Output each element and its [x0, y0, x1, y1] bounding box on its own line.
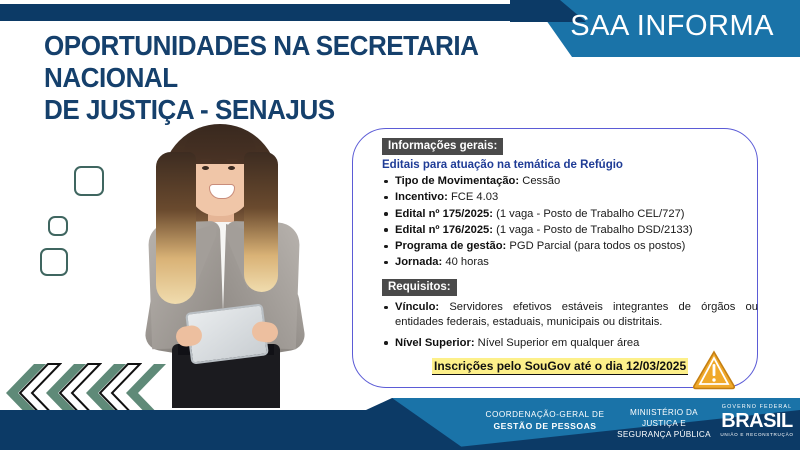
list-item: Nível Superior: Nível Superior em qualqu…	[382, 336, 762, 351]
warning-triangle-icon	[692, 350, 736, 390]
list-item: Incentivo: FCE 4.03	[382, 190, 762, 205]
footer-cgp: COORDENAÇÃO-GERAL DE GESTÃO DE PESSOAS	[470, 410, 620, 433]
list-item-value: (1 vaga - Posto de Trabalho DSD/2133)	[493, 224, 693, 236]
decorative-square-icon	[48, 216, 68, 236]
requirements-section-tag: Requisitos:	[382, 279, 457, 296]
info-section-tag: Informações gerais:	[382, 138, 503, 155]
list-item-label: Vínculo:	[395, 301, 439, 313]
list-item-label: Tipo de Movimentação:	[395, 175, 519, 187]
brasil-logo: GOVERNO FEDERAL BRASIL UNIÃO E RECONSTRU…	[718, 404, 796, 437]
info-card-content: Informações gerais: Editais para atuação…	[382, 136, 762, 352]
requirements-list: Vínculo: Servidores efetivos estáveis in…	[382, 300, 762, 350]
footer-ministry-line1: MINIISTÉRIO DA	[630, 408, 698, 417]
list-item: Vínculo: Servidores efetivos estáveis in…	[382, 300, 762, 330]
list-item-label: Incentivo:	[395, 191, 448, 203]
decorative-square-icon	[40, 248, 68, 276]
footer-cgp-line2: GESTÃO DE PESSOAS	[493, 421, 596, 431]
decorative-square-icon	[74, 166, 104, 196]
list-item-value: Cessão	[519, 175, 560, 187]
list-item-value: Nível Superior em qualquer área	[475, 337, 640, 349]
footer-ministry-line3: SEGURANÇA PÚBLICA	[617, 430, 711, 439]
list-item-value: FCE 4.03	[448, 191, 498, 203]
list-item: Tipo de Movimentação: Cessão	[382, 174, 762, 189]
list-item: Edital nº 176/2025: (1 vaga - Posto de T…	[382, 223, 762, 238]
list-item-label: Nível Superior:	[395, 337, 475, 349]
page-title-line1: OPORTUNIDADES NA SECRETARIA NACIONAL	[44, 30, 478, 93]
page-title: OPORTUNIDADES NA SECRETARIA NACIONAL DE …	[44, 30, 490, 126]
inscription-note: Inscrições pelo SouGov até o dia 12/03/2…	[432, 358, 688, 375]
brasil-logo-bottom: UNIÃO E RECONSTRUÇÃO	[718, 432, 796, 437]
list-item-value: Servidores efetivos estáveis integrantes…	[395, 301, 758, 328]
list-item-value: PGD Parcial (para todos os postos)	[506, 240, 685, 252]
list-item: Programa de gestão: PGD Parcial (para to…	[382, 239, 762, 254]
poster-canvas: SAA INFORMA OPORTUNIDADES NA SECRETARIA …	[0, 0, 800, 450]
list-item-label: Jornada:	[395, 256, 442, 268]
list-item-label: Edital nº 176/2025:	[395, 224, 493, 236]
list-item-value: 40 horas	[442, 256, 489, 268]
info-list: Tipo de Movimentação: CessãoIncentivo: F…	[382, 174, 762, 270]
footer-ministry-line2: JUSTIÇA E	[642, 419, 686, 428]
list-item-label: Programa de gestão:	[395, 240, 506, 252]
list-item: Edital nº 175/2025: (1 vaga - Posto de T…	[382, 207, 762, 222]
brasil-logo-main: BRASIL	[718, 411, 796, 431]
footer-ministry: MINIISTÉRIO DA JUSTIÇA E SEGURANÇA PÚBLI…	[608, 408, 720, 440]
list-item-label: Edital nº 175/2025:	[395, 208, 493, 220]
banner-label: SAA INFORMA	[570, 10, 774, 43]
footer-cgp-line1: COORDENAÇÃO-GERAL DE	[486, 410, 605, 419]
list-item-value: (1 vaga - Posto de Trabalho CEL/727)	[493, 208, 685, 220]
info-subheading: Editais para atuação na temática de Refú…	[382, 159, 762, 171]
list-item: Jornada: 40 horas	[382, 255, 762, 270]
